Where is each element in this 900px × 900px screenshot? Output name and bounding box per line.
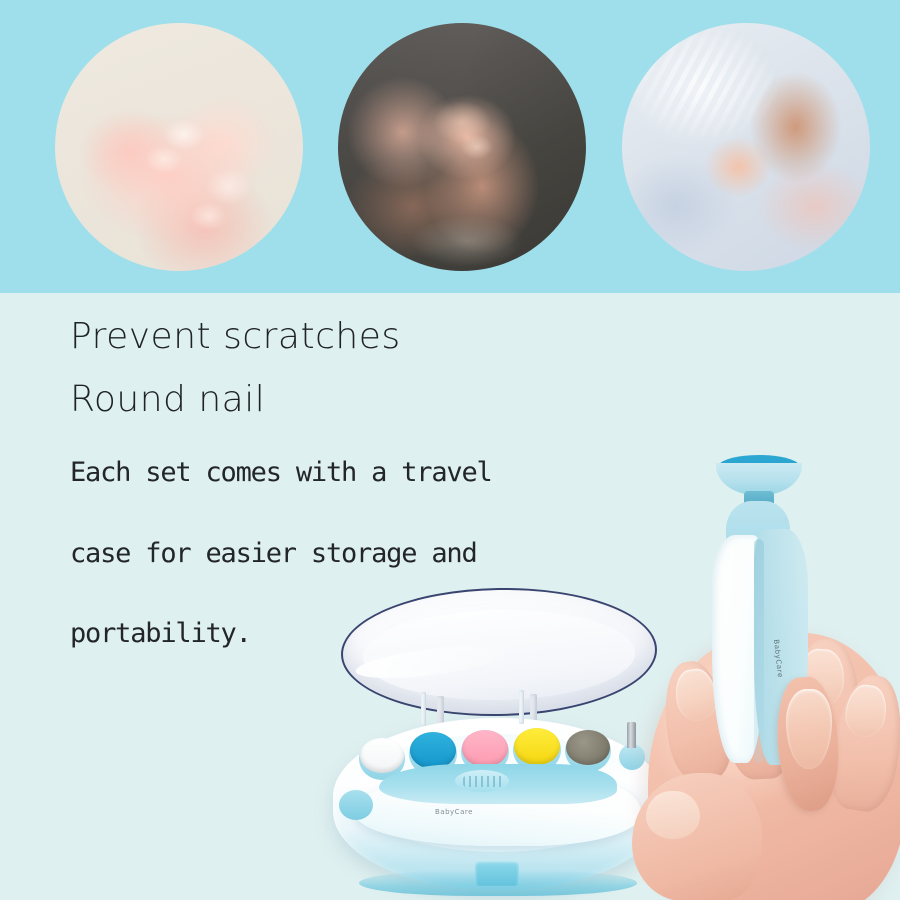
grinder-device-in-case: BabyCare <box>355 762 641 854</box>
photo-3-image <box>622 23 870 271</box>
photo-1-image <box>55 23 303 271</box>
photo-2-image <box>338 23 586 271</box>
body-text-line-1: Each set comes with a travel <box>70 457 492 488</box>
head-stand-right <box>519 690 524 724</box>
case-lid <box>340 585 658 718</box>
photo-newborn-held-in-adult-hands <box>338 23 586 271</box>
grinder-center-groove <box>754 539 764 763</box>
thumb <box>632 773 762 900</box>
device-head-mount <box>339 790 373 820</box>
headline-prevent-scratches: Prevent scratches <box>70 316 401 357</box>
head-disc-surface <box>514 728 560 765</box>
handheld-nail-grinder: BabyCare <box>692 443 822 773</box>
thumbnail <box>646 791 700 839</box>
feature-panel: Prevent scratches Round nail Each set co… <box>0 293 900 900</box>
hand-holding-grinder-image: BabyCare <box>620 443 900 900</box>
photo-baby-hand-holding-adult-finger <box>55 23 303 271</box>
device-vent-grille <box>463 776 503 787</box>
body-text-line-2: case for easier storage and <box>70 538 477 569</box>
body-text-line-3: portability. <box>70 618 251 649</box>
headline-round-nail: Round nail <box>70 379 265 420</box>
head-stand-left <box>421 692 426 726</box>
case-latch <box>475 860 519 886</box>
product-infographic: Prevent scratches Round nail Each set co… <box>0 0 900 900</box>
travel-case-product-image: BabyCare <box>333 588 663 893</box>
case-device-brand-text: BabyCare <box>435 808 473 816</box>
head-disc-surface <box>566 730 610 765</box>
hero-banner <box>0 0 900 293</box>
photo-swaddled-baby-hand-held <box>622 23 870 271</box>
